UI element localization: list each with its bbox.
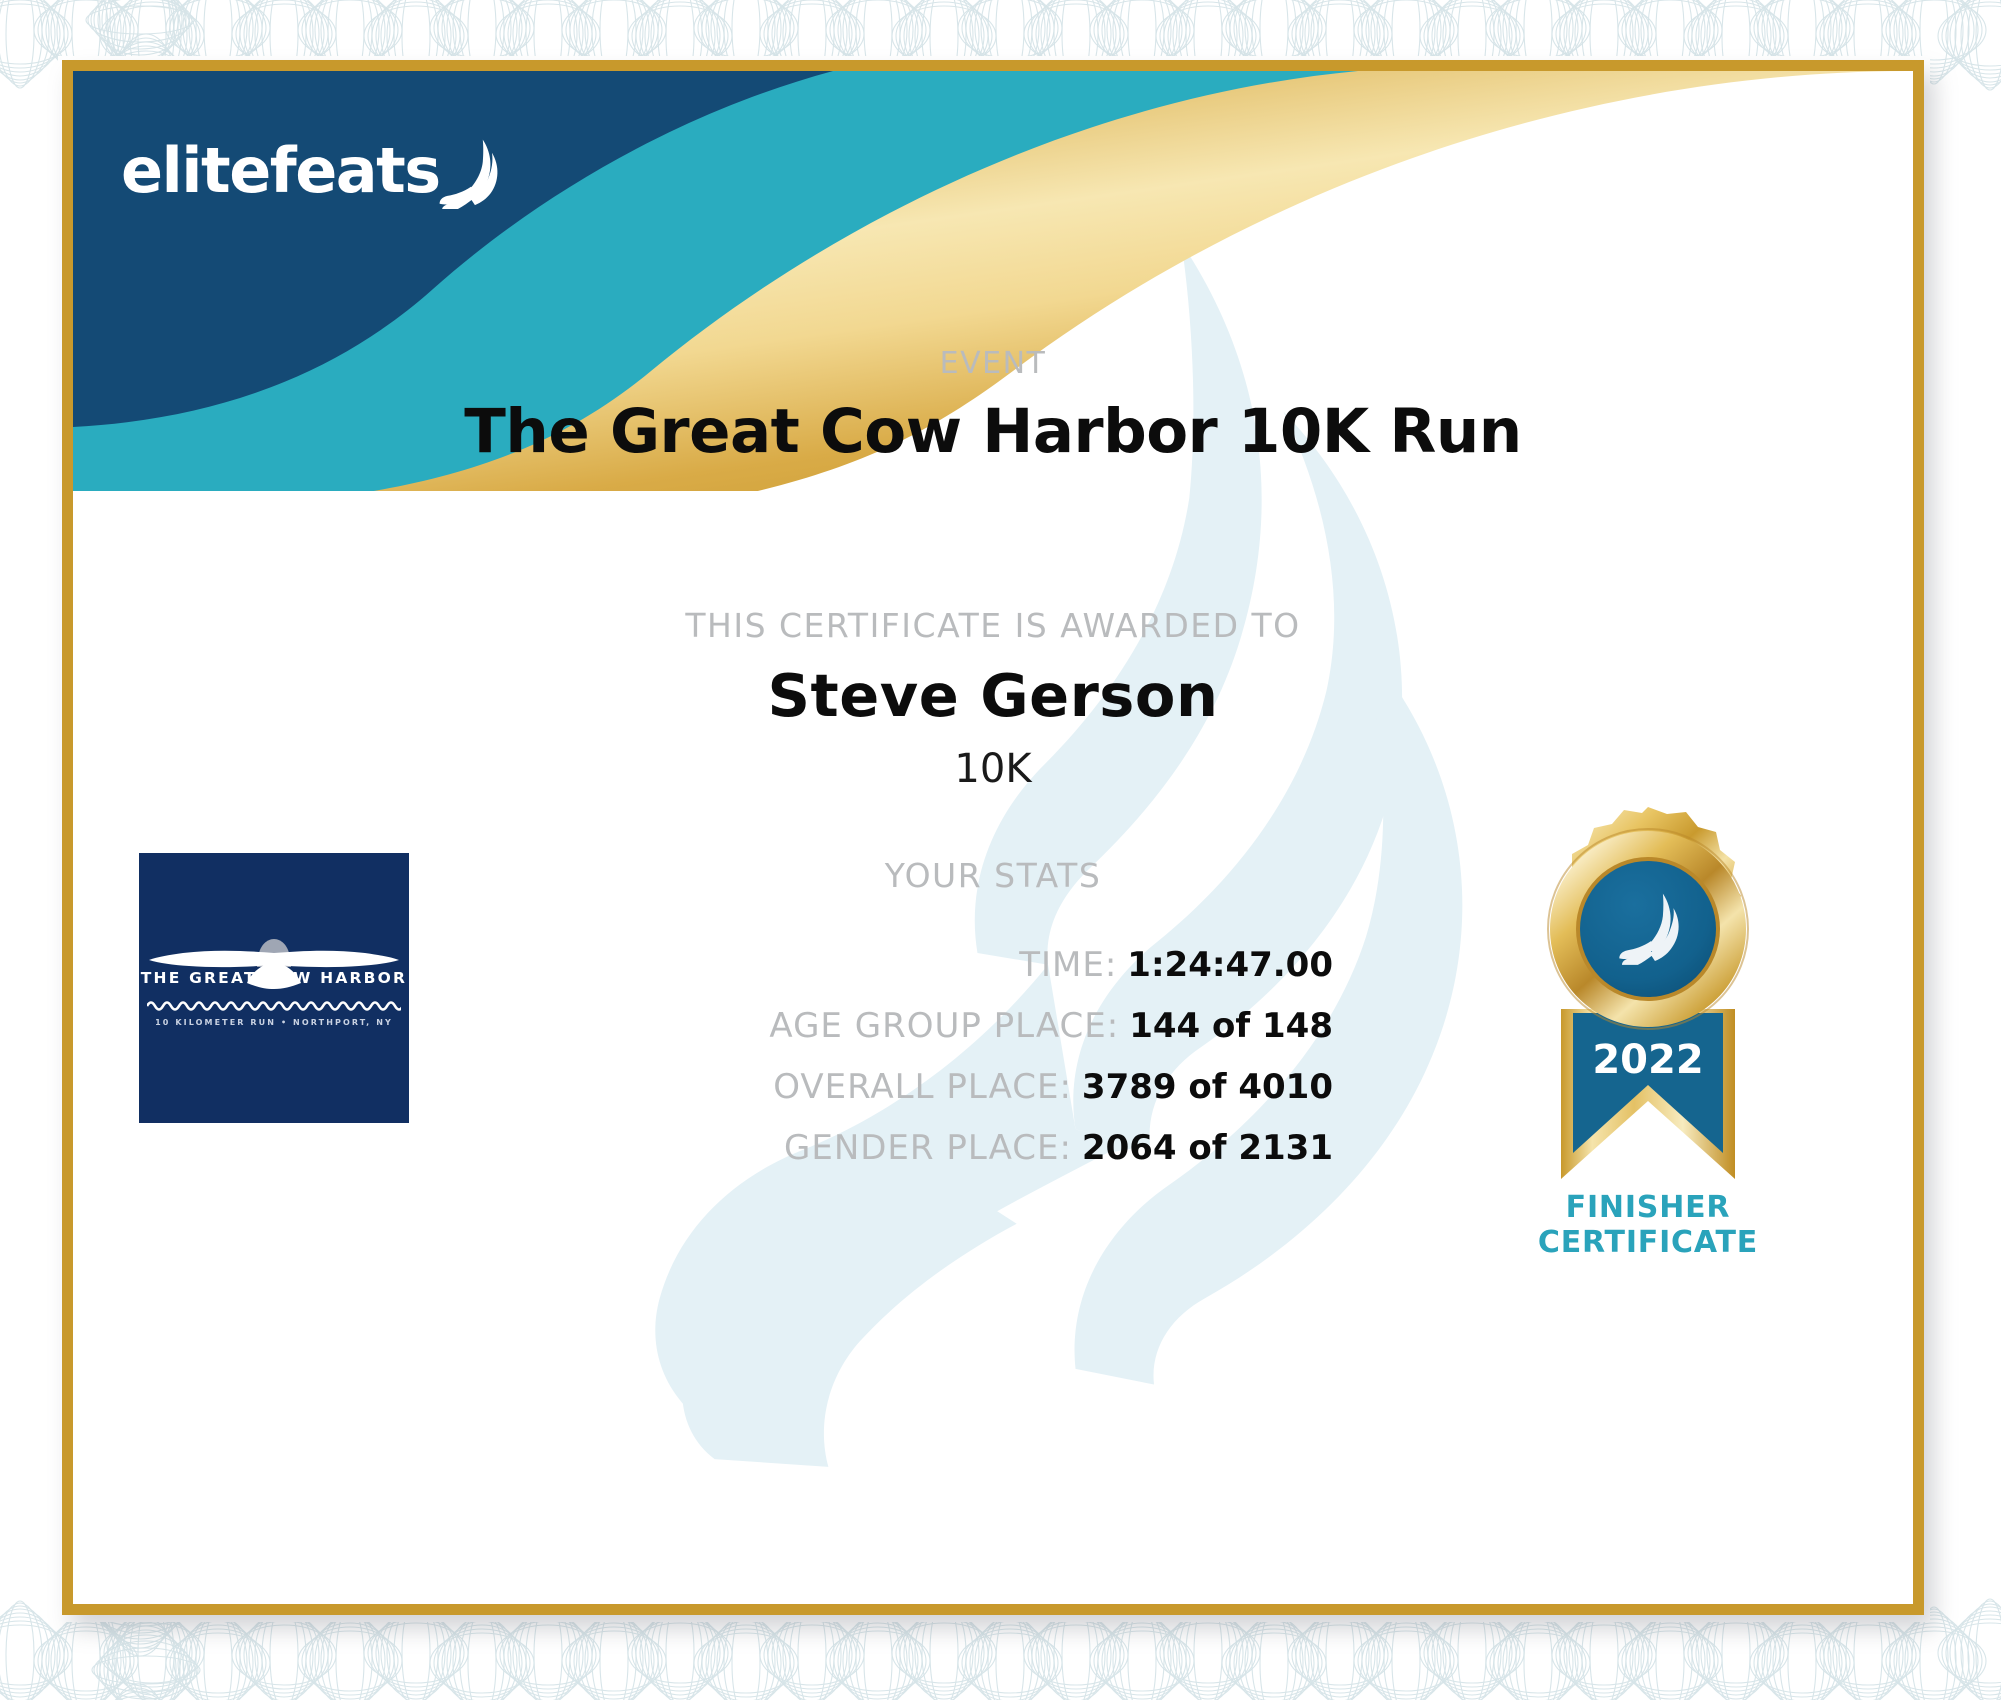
certificate-content: EVENT The Great Cow Harbor 10K Run THIS … (73, 71, 1913, 1604)
race-logo-subtitle: 10 KILOMETER RUN • NORTHPORT, NY (139, 1018, 409, 1027)
stat-value: 3789 of 4010 (1082, 1067, 1333, 1107)
finisher-medal-badge: 2022 (1503, 801, 1793, 1201)
certificate-frame: elitefeats EVENT The Great Cow Harbor 10… (62, 60, 1924, 1615)
stat-key: TIME: (1019, 945, 1117, 985)
race-logo: THE GREAT COW HARBOR 10 KILOMETER RUN • … (139, 853, 409, 1123)
awarded-to-label: THIS CERTIFICATE IS AWARDED TO (73, 606, 1913, 645)
recipient-distance: 10K (73, 746, 1913, 792)
medal-caption: FINISHER CERTIFICATE (1463, 1191, 1833, 1260)
stat-row: GENDER PLACE:2064 of 2131 (373, 1129, 1333, 1168)
stat-value: 2064 of 2131 (1082, 1128, 1333, 1168)
wave-divider-icon (147, 999, 401, 1011)
medal-caption-line2: CERTIFICATE (1463, 1226, 1833, 1261)
stat-value: 144 of 148 (1129, 1006, 1333, 1046)
stats-list: TIME:1:24:47.00 AGE GROUP PLACE:144 of 1… (373, 946, 1333, 1190)
stat-key: OVERALL PLACE: (773, 1067, 1072, 1107)
event-title: The Great Cow Harbor 10K Run (73, 396, 1913, 467)
stat-row: TIME:1:24:47.00 (373, 946, 1333, 985)
medal-caption-line1: FINISHER (1463, 1191, 1833, 1226)
stat-row: OVERALL PLACE:3789 of 4010 (373, 1068, 1333, 1107)
race-logo-title: THE GREAT COW HARBOR (139, 969, 409, 987)
stat-key: GENDER PLACE: (784, 1128, 1072, 1168)
recipient-name: Steve Gerson (73, 661, 1913, 730)
stat-key: AGE GROUP PLACE: (769, 1006, 1119, 1046)
stat-row: AGE GROUP PLACE:144 of 148 (373, 1007, 1333, 1046)
event-label: EVENT (73, 346, 1913, 381)
stat-value: 1:24:47.00 (1127, 945, 1333, 985)
seagull-icon (139, 853, 409, 1123)
certificate-page: elitefeats EVENT The Great Cow Harbor 10… (0, 0, 2001, 1700)
medal-year: 2022 (1592, 1037, 1703, 1083)
